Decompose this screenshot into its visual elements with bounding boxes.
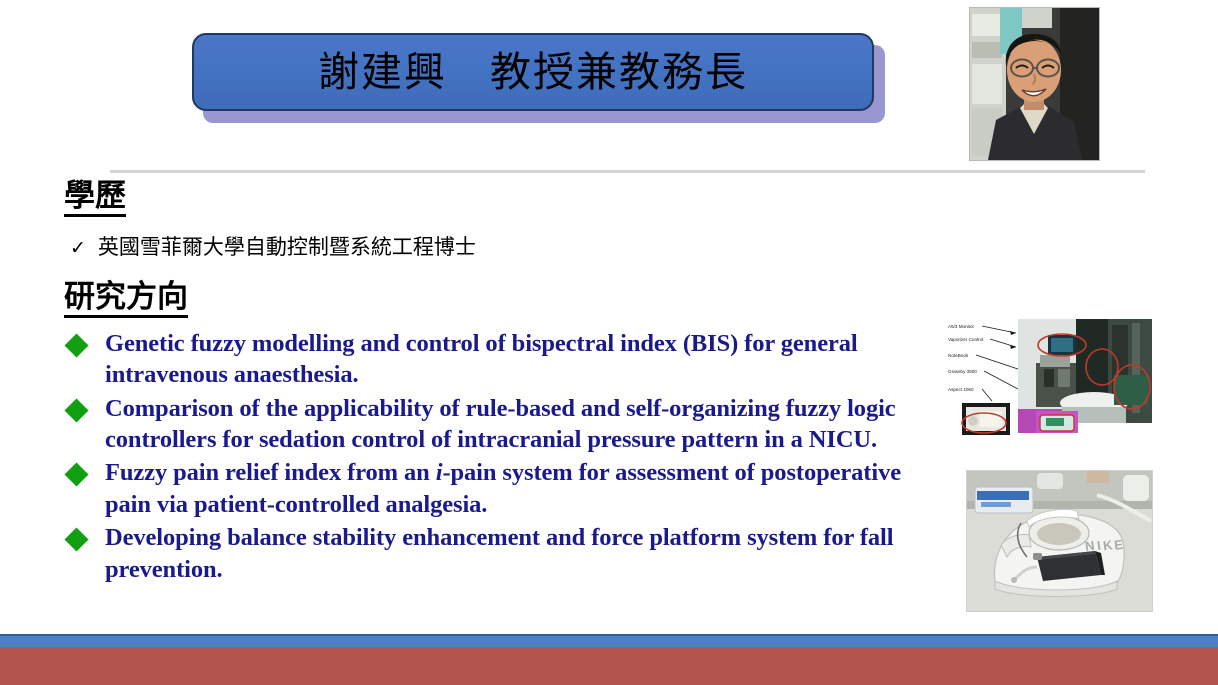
research-item-text: Comparison of the applicability of rule-… xyxy=(105,393,944,456)
list-item: Developing balance stability enhancement… xyxy=(64,522,944,585)
instrumented-shoe-graphic: N I K E xyxy=(967,471,1152,611)
list-item: Comparison of the applicability of rule-… xyxy=(64,393,944,456)
slide-title: 謝建興 教授兼教務長 xyxy=(318,52,748,93)
anaesthesia-equipment-photo: A5/3 Monitor Vaporizer Control NoteBook … xyxy=(944,311,1152,437)
portrait-photo xyxy=(969,7,1100,161)
check-icon: ✓ xyxy=(70,239,86,258)
research-item-text: Genetic fuzzy modelling and control of b… xyxy=(105,328,944,391)
title-banner: 謝建興 教授兼教務長 xyxy=(192,33,874,111)
diamond-bullet-icon xyxy=(64,398,88,422)
svg-text:Vaporizer Control: Vaporizer Control xyxy=(948,337,983,342)
svg-text:NoteBook: NoteBook xyxy=(948,353,969,358)
list-item: Fuzzy pain relief index from an i-pain s… xyxy=(64,457,944,520)
anaesthesia-equipment-graphic: A5/3 Monitor Vaporizer Control NoteBook … xyxy=(944,311,1152,437)
instrumented-shoe-photo: N I K E xyxy=(966,470,1153,612)
diamond-bullet-icon xyxy=(64,528,88,552)
education-list-item: ✓ 英國雪菲爾大學自動控制暨系統工程博士 xyxy=(70,231,476,261)
diamond-bullet-icon xyxy=(64,463,88,487)
diamond-bullet-icon xyxy=(64,333,88,357)
research-item-text: Developing balance stability enhancement… xyxy=(105,522,944,585)
header-divider xyxy=(110,170,1145,173)
education-heading: 學歷 xyxy=(64,180,126,217)
research-list: Genetic fuzzy modelling and control of b… xyxy=(64,328,944,587)
research-item-text-rich: Fuzzy pain relief index from an i-pain s… xyxy=(105,457,944,520)
research-item-text-before: Fuzzy pain relief index from an xyxy=(105,459,436,486)
slide-canvas: 謝建興 教授兼教務長 xyxy=(0,0,1218,685)
list-item: Genetic fuzzy modelling and control of b… xyxy=(64,328,944,391)
footer-bar xyxy=(0,647,1218,685)
portrait-photo-graphic xyxy=(970,8,1099,160)
education-item-text: 英國雪菲爾大學自動控制暨系統工程博士 xyxy=(98,231,476,261)
svg-text:Aspect 1050: Aspect 1050 xyxy=(948,387,974,392)
research-heading: 研究方向 xyxy=(64,281,188,318)
svg-text:Graseby 3500: Graseby 3500 xyxy=(948,369,977,374)
svg-text:A5/3 Monitor: A5/3 Monitor xyxy=(948,324,975,329)
